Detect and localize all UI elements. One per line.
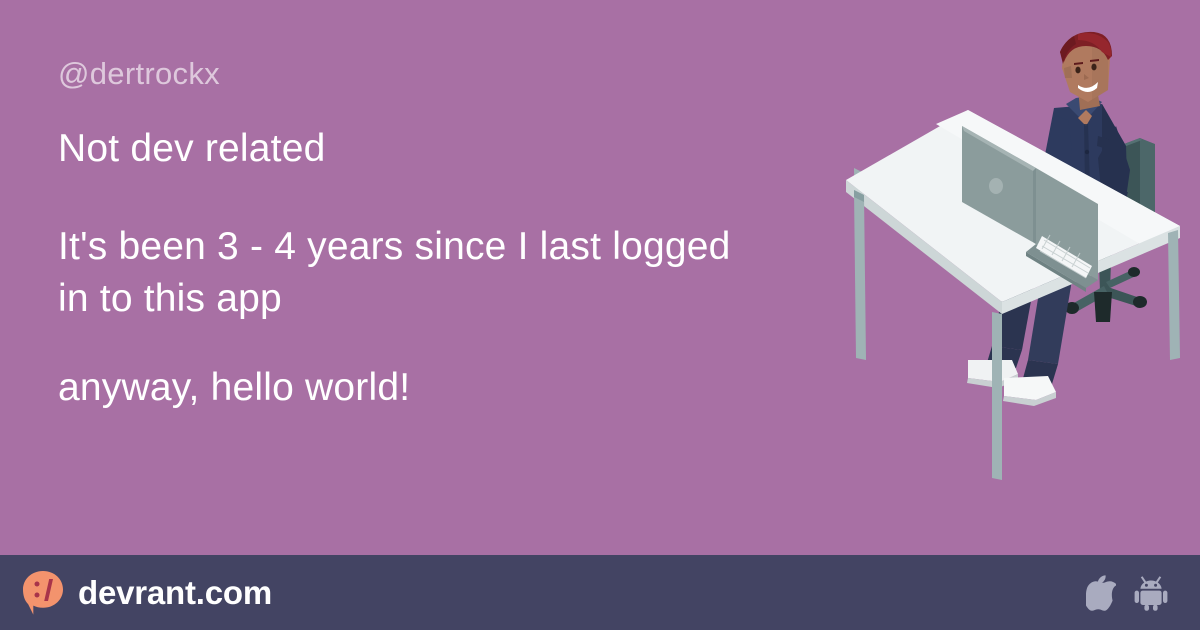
rant-content: @dertrockx Not dev related It's been 3 -… <box>0 0 760 555</box>
desk <box>846 110 1180 480</box>
store-badges <box>1086 575 1182 611</box>
rant-body-text: It's been 3 - 4 years since I last logge… <box>58 221 738 325</box>
rant-signoff-text: anyway, hello world! <box>58 366 760 410</box>
man-working-at-desk-illustration <box>840 30 1200 510</box>
brand-link[interactable]: devrant.com <box>22 570 272 616</box>
devrant-share-card: @dertrockx Not dev related It's been 3 -… <box>0 0 1200 630</box>
footer-bar: devrant.com <box>0 555 1200 630</box>
rant-title: Not dev related <box>58 127 760 171</box>
laptop <box>962 126 1098 292</box>
apple-icon[interactable] <box>1086 575 1116 611</box>
speech-bubble-icon <box>22 570 64 616</box>
android-icon[interactable] <box>1134 575 1168 611</box>
person-figure <box>967 32 1130 406</box>
office-chair-icon <box>1065 138 1155 322</box>
brand-name-label: devrant.com <box>78 576 272 609</box>
rant-username[interactable]: @dertrockx <box>58 58 760 89</box>
